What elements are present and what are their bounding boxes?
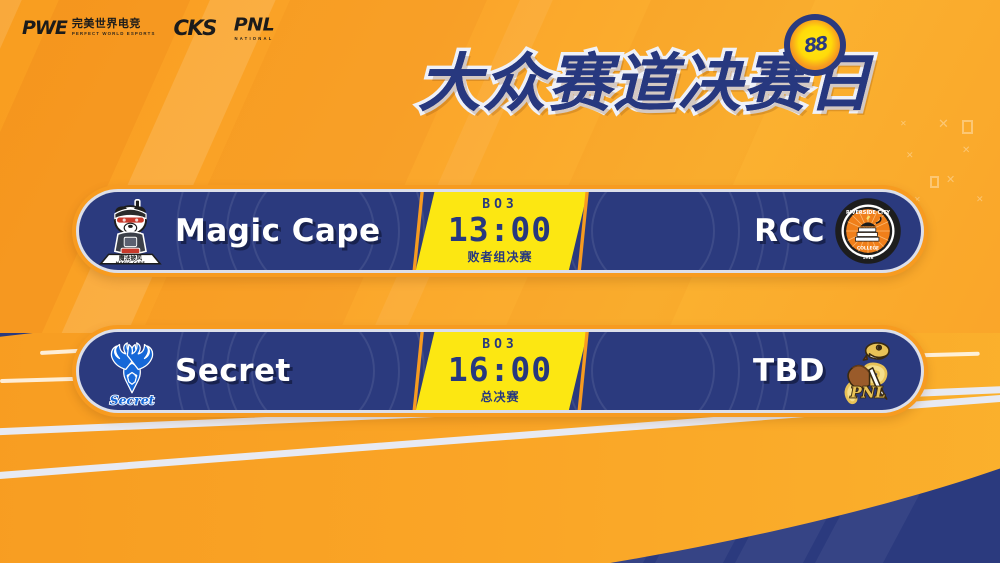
logo-cks: CKS — [173, 16, 215, 40]
match-right-team: RCC — [588, 192, 921, 270]
match-center-info: BO3 16:00 总决赛 — [412, 332, 588, 410]
match-right-team-name: TBD — [753, 353, 825, 389]
match-left-team: 魔法披风 MAGIC CAPE Magic Cape — [79, 192, 412, 270]
svg-text:PNL: PNL — [849, 385, 885, 402]
team-secret-stag-logo-icon: Secret — [93, 332, 171, 410]
pwe-en-label: PERFECT WORLD ESPORTS — [72, 31, 156, 36]
match-left-team-name: Magic Cape — [175, 213, 381, 249]
cks-mark: CKS — [173, 16, 215, 40]
poster-canvas: ✕ ✕ ✕ ✕ ✕ ✕ ✕ PNL PNL PNL PWE 完美世界电竞 PER… — [0, 0, 1000, 563]
match-stage: 总决赛 — [480, 388, 519, 405]
match-stage: 败者组决赛 — [467, 248, 532, 265]
pwe-cn-label: 完美世界电竞 — [72, 19, 156, 31]
riverside-city-college-seal-logo-icon: RIVERSIDE CITY COLLEGE 1916 — [829, 192, 907, 270]
match-left-team: Secret Secret — [79, 332, 412, 410]
pnl-mark: PNL — [234, 15, 274, 35]
match-time: 16:00 — [448, 353, 552, 387]
match-right-team-name: RCC — [754, 213, 825, 249]
match-time: 13:00 — [448, 213, 552, 247]
svg-text:1916: 1916 — [863, 255, 874, 260]
sponsor-logo-bar: PWE 完美世界电竞 PERFECT WORLD ESPORTS CKS PNL… — [22, 14, 274, 41]
logo-pnl-national: PNL NATIONAL — [234, 14, 274, 41]
pnl-national-label: NATIONAL — [234, 36, 274, 41]
match-left-team-name: Secret — [175, 353, 291, 389]
pnl-snake-logo-icon: PNL — [829, 332, 907, 410]
svg-text:COLLEGE: COLLEGE — [857, 246, 879, 252]
match-center-info: BO3 13:00 败者组决赛 — [412, 192, 588, 270]
match-row[interactable]: 魔法披风 MAGIC CAPE Magic Cape BO3 13:00 败者组… — [72, 185, 928, 277]
title-badge-label: 88 — [802, 33, 827, 58]
svg-text:Secret: Secret — [110, 393, 155, 408]
match-right-team: TBD — [588, 332, 921, 410]
svg-text:RIVERSIDE CITY: RIVERSIDE CITY — [846, 210, 890, 216]
title-badge-icon: 88 — [784, 14, 846, 76]
page-title: 大众赛道决赛日 大众赛道决赛日 88 — [418, 44, 988, 124]
magic-cape-panda-logo-icon: 魔法披风 MAGIC CAPE — [93, 192, 171, 270]
match-row[interactable]: Secret Secret BO3 16:00 总决赛 TBD — [72, 325, 928, 417]
pwe-mark: PWE — [22, 17, 67, 39]
logo-perfect-world-esports: PWE 完美世界电竞 PERFECT WORLD ESPORTS — [22, 17, 155, 39]
svg-text:MAGIC CAPE: MAGIC CAPE — [116, 261, 146, 265]
